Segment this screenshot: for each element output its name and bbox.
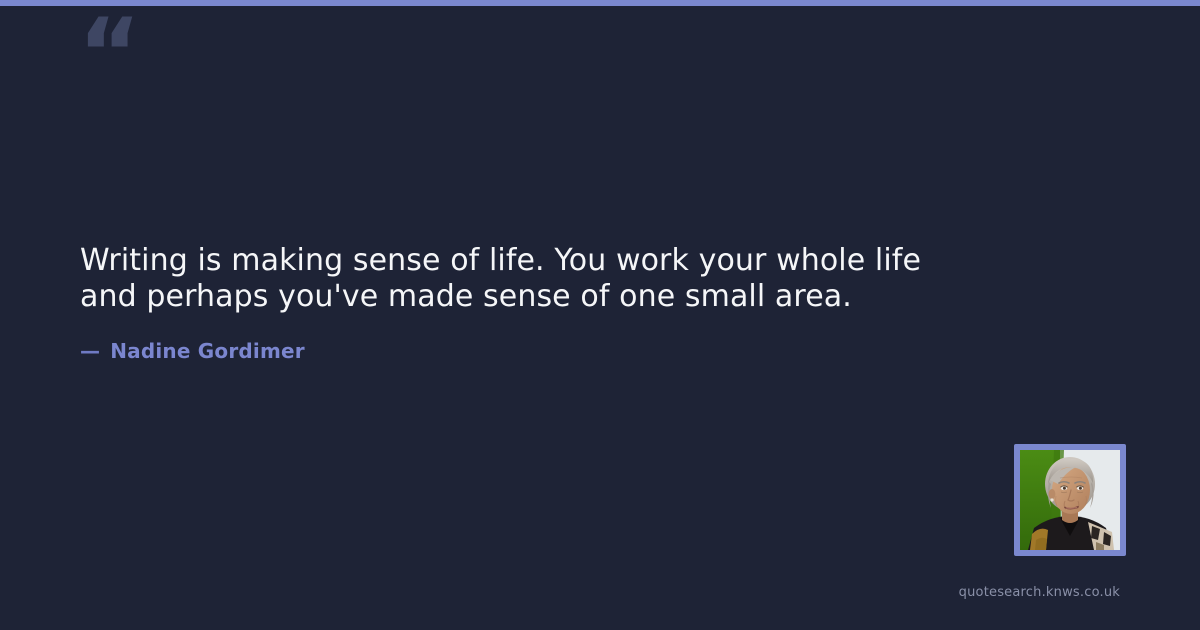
portrait-image bbox=[1020, 450, 1120, 550]
open-quote-icon: “ bbox=[78, 6, 139, 102]
quote-attribution: — Nadine Gordimer bbox=[80, 339, 305, 363]
author-portrait bbox=[1020, 450, 1120, 550]
quote-line-1: Writing is making sense of life. You wor… bbox=[80, 243, 1030, 279]
author-name: Nadine Gordimer bbox=[110, 339, 305, 363]
quote-line-2: and perhaps you've made sense of one sma… bbox=[80, 279, 1030, 315]
quote-block: Writing is making sense of life. You wor… bbox=[80, 243, 1030, 315]
site-watermark: quotesearch.knws.co.uk bbox=[959, 585, 1120, 600]
quote-card: “ Writing is making sense of life. You w… bbox=[0, 0, 1200, 630]
attribution-dash: — bbox=[80, 339, 100, 363]
top-accent-bar bbox=[0, 0, 1200, 6]
